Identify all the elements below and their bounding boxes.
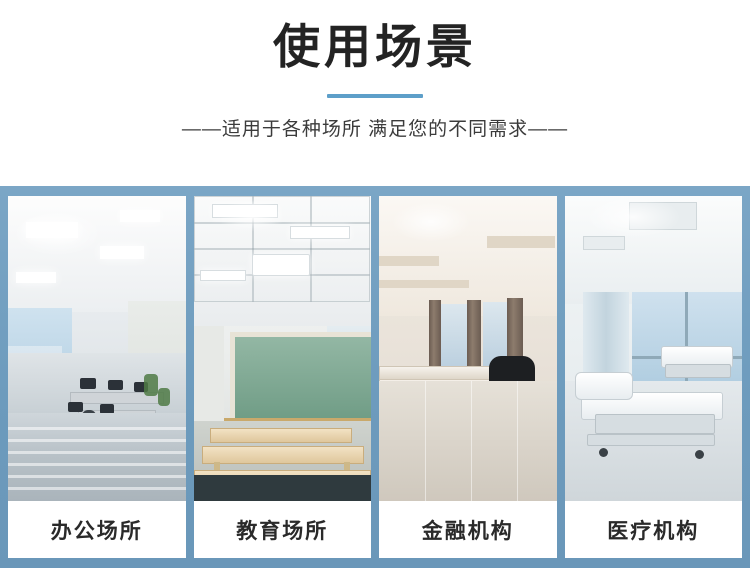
scene-card-bank[interactable]: 金融机构 <box>379 196 557 558</box>
scene-photo-classroom <box>194 196 372 501</box>
scene-card-classroom[interactable]: 教育场所 <box>194 196 372 558</box>
title-underline <box>327 94 423 98</box>
page-root: 使用场景 ——适用于各种场所 满足您的不同需求—— <box>0 0 750 588</box>
page-title: 使用场景 <box>0 18 750 77</box>
scene-photo-office <box>8 196 186 501</box>
scene-caption-office: 办公场所 <box>8 501 186 558</box>
scene-photo-hospital <box>565 196 743 501</box>
scene-caption-classroom: 教育场所 <box>194 501 372 558</box>
page-subtitle: ——适用于各种场所 满足您的不同需求—— <box>0 114 750 141</box>
scene-caption-hospital: 医疗机构 <box>565 501 743 558</box>
scene-card-office[interactable]: 办公场所 <box>8 196 186 558</box>
scene-photo-bank <box>379 196 557 501</box>
scene-caption-bank: 金融机构 <box>379 501 557 558</box>
scene-gallery: 办公场所 <box>0 186 750 568</box>
scene-card-hospital[interactable]: 医疗机构 <box>565 196 743 558</box>
page-header: 使用场景 ——适用于各种场所 满足您的不同需求—— <box>0 0 750 141</box>
